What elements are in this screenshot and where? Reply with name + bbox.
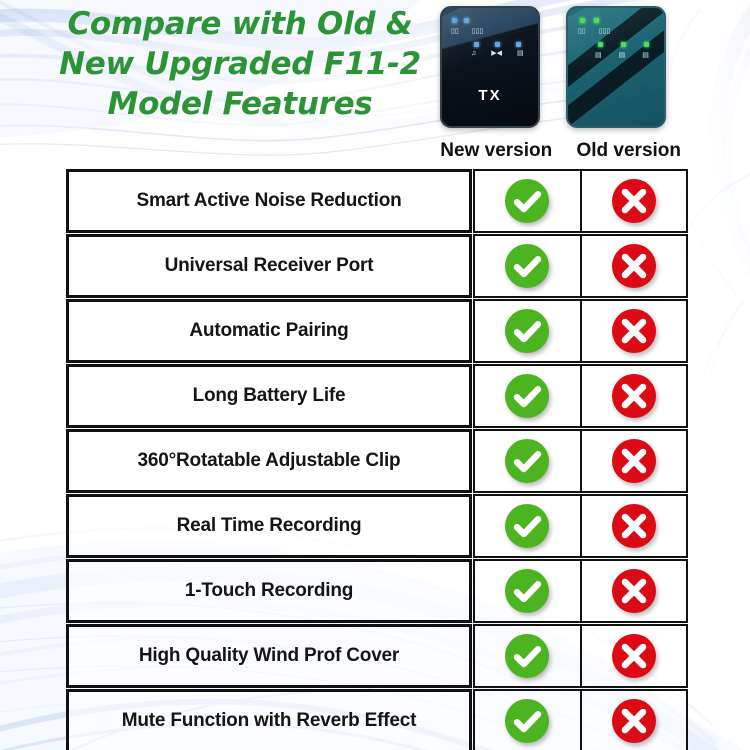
- new-device-function-icons: ♫▶◀▤: [471, 50, 524, 58]
- cross-circle-icon: [611, 373, 657, 419]
- check-circle-icon: [504, 438, 550, 484]
- new-device-port-icons: ▯▯▯▯▯: [451, 28, 483, 36]
- old-version-device-image: ▯▯▯▯▯ ▤▤▤: [566, 6, 666, 128]
- feature-cell: Smart Active Noise Reduction: [66, 169, 472, 233]
- feature-cell: Long Battery Life: [66, 364, 472, 428]
- feature-label: Universal Receiver Port: [165, 255, 374, 277]
- check-circle-icon: [504, 698, 550, 744]
- check-circle-icon: [504, 243, 550, 289]
- table-row: Mute Function with Reverb Effect: [66, 689, 688, 750]
- feature-cell: Universal Receiver Port: [66, 234, 472, 298]
- old-device-top-leds: [580, 18, 599, 23]
- cross-circle-icon: [611, 503, 657, 549]
- new-device-status-leds: [474, 42, 521, 47]
- old-version-cell: [582, 364, 689, 428]
- page-title: Compare with Old & New Upgraded F11-2 Mo…: [40, 4, 440, 124]
- new-version-cell: [473, 429, 582, 493]
- check-circle-icon: [504, 633, 550, 679]
- old-version-cell: [582, 689, 689, 750]
- feature-label: Mute Function with Reverb Effect: [122, 710, 416, 732]
- table-row: Long Battery Life: [66, 364, 688, 428]
- check-circle-icon: [504, 308, 550, 354]
- table-row: High Quality Wind Prof Cover: [66, 624, 688, 688]
- new-version-cell: [473, 494, 582, 558]
- title-line-2: New Upgraded F11-2: [40, 44, 440, 84]
- feature-label: Smart Active Noise Reduction: [136, 190, 401, 212]
- new-version-cell: [473, 299, 582, 363]
- feature-cell: High Quality Wind Prof Cover: [66, 624, 472, 688]
- table-row: Automatic Pairing: [66, 299, 688, 363]
- old-device-function-icons: ▤▤▤: [595, 52, 649, 60]
- old-device-port-icons: ▯▯▯▯▯: [578, 28, 610, 36]
- title-line-3: Model Features: [40, 84, 440, 124]
- table-row: Smart Active Noise Reduction: [66, 169, 688, 233]
- feature-label: Automatic Pairing: [189, 320, 348, 342]
- column-headers: New version Old version: [430, 140, 695, 164]
- device-tx-label: TX: [442, 87, 538, 104]
- comparison-infographic: Compare with Old & New Upgraded F11-2 Mo…: [0, 0, 750, 750]
- cross-circle-icon: [611, 243, 657, 289]
- new-version-cell: [473, 624, 582, 688]
- new-version-cell: [473, 234, 582, 298]
- header-old-version: Old version: [563, 140, 696, 164]
- feature-label: Long Battery Life: [193, 385, 346, 407]
- cross-circle-icon: [611, 633, 657, 679]
- old-version-cell: [582, 559, 689, 623]
- cross-circle-icon: [611, 178, 657, 224]
- new-version-cell: [473, 364, 582, 428]
- table-row: Universal Receiver Port: [66, 234, 688, 298]
- check-circle-icon: [504, 373, 550, 419]
- new-version-device-image: ▯▯▯▯▯ ♫▶◀▤ TX: [440, 6, 540, 128]
- old-version-cell: [582, 169, 689, 233]
- check-circle-icon: [504, 178, 550, 224]
- feature-label: High Quality Wind Prof Cover: [139, 645, 399, 667]
- old-version-cell: [582, 234, 689, 298]
- product-images: ▯▯▯▯▯ ♫▶◀▤ TX ▯▯▯▯▯ ▤▤▤: [440, 6, 700, 131]
- table-row: Real Time Recording: [66, 494, 688, 558]
- new-version-cell: [473, 559, 582, 623]
- title-line-1: Compare with Old &: [40, 4, 440, 44]
- table-row: 1-Touch Recording: [66, 559, 688, 623]
- feature-label: Real Time Recording: [177, 515, 362, 537]
- old-version-cell: [582, 429, 689, 493]
- old-version-cell: [582, 494, 689, 558]
- cross-circle-icon: [611, 438, 657, 484]
- comparison-table: Smart Active Noise ReductionUniversal Re…: [66, 169, 688, 750]
- old-device-status-leds: [598, 42, 649, 47]
- check-circle-icon: [504, 568, 550, 614]
- feature-cell: 360°Rotatable Adjustable Clip: [66, 429, 472, 493]
- old-version-cell: [582, 624, 689, 688]
- cross-circle-icon: [611, 308, 657, 354]
- feature-cell: 1-Touch Recording: [66, 559, 472, 623]
- cross-circle-icon: [611, 698, 657, 744]
- new-version-cell: [473, 689, 582, 750]
- new-device-top-leds: [452, 18, 469, 23]
- feature-cell: Real Time Recording: [66, 494, 472, 558]
- feature-cell: Mute Function with Reverb Effect: [66, 689, 472, 750]
- new-version-cell: [473, 169, 582, 233]
- old-version-cell: [582, 299, 689, 363]
- check-circle-icon: [504, 503, 550, 549]
- feature-cell: Automatic Pairing: [66, 299, 472, 363]
- header-new-version: New version: [430, 140, 563, 164]
- feature-label: 1-Touch Recording: [185, 580, 353, 602]
- feature-label: 360°Rotatable Adjustable Clip: [138, 450, 401, 472]
- table-row: 360°Rotatable Adjustable Clip: [66, 429, 688, 493]
- cross-circle-icon: [611, 568, 657, 614]
